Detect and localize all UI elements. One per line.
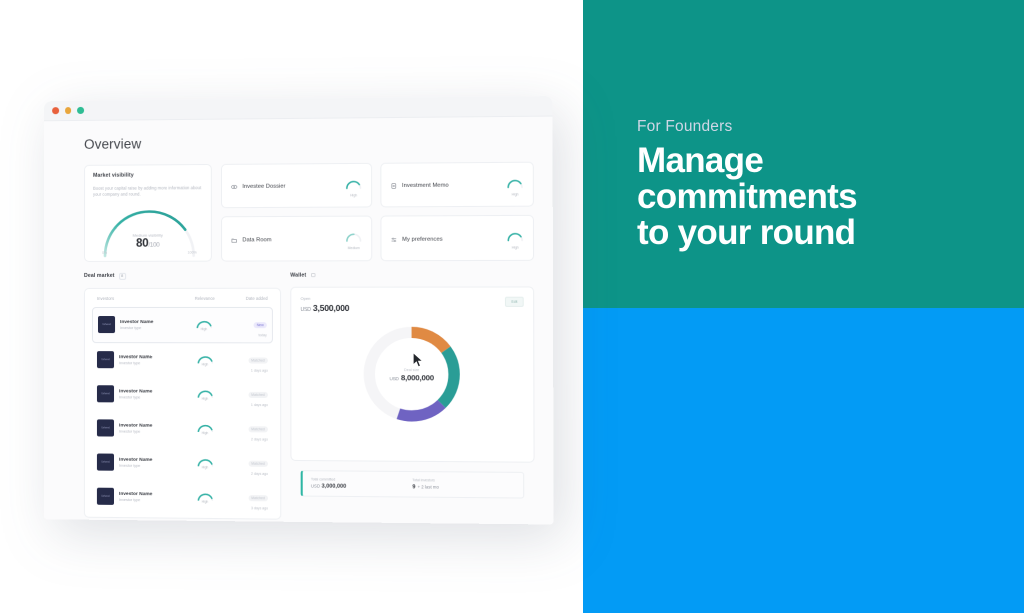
total-investors-trend: + 2 last mo [418, 484, 439, 489]
investor-type: Investor type [119, 464, 183, 469]
investor-name: Investor Name [119, 491, 183, 497]
market-visibility-label: Market visibility [93, 172, 203, 179]
status-badge: Matched [248, 460, 268, 466]
avatar: Ushered [98, 316, 115, 333]
relevance-label: High [202, 431, 209, 435]
edit-button[interactable]: Edit [505, 297, 524, 307]
investor-type: Investor type [119, 430, 183, 434]
total-investors: Total investors 9+ 2 last mo [412, 478, 514, 491]
status-badge: Matched [248, 357, 268, 363]
investor-type: Investor type [119, 361, 183, 365]
total-committed: Total committed USD3,000,000 [311, 477, 412, 490]
lower-row: Deal market 8 Investors Relevance Date a… [84, 272, 535, 522]
status-badge: New [254, 322, 267, 328]
relevance-gauge: High [183, 491, 228, 504]
column-header-relevance: Relevance [183, 296, 228, 301]
action-label: My preferences [402, 236, 443, 242]
action-score: High [507, 192, 524, 196]
donut-center-readout: Deal size USD8,000,000 [389, 368, 434, 382]
investor-type: Investor type [120, 326, 181, 330]
market-visibility-gauge: Medium visibility 80/100 0% 100% [93, 207, 203, 256]
total-investors-value: 9+ 2 last mo [412, 484, 514, 491]
table-row[interactable]: Ushered Investor Name Investor type High [92, 479, 273, 515]
page-title: Overview [84, 133, 534, 152]
minimize-window-icon[interactable] [65, 107, 71, 114]
wallet-open-label: Open [300, 295, 523, 300]
relevance-label: High [200, 327, 207, 331]
action-card-investee-dossier[interactable]: Investee Dossier High [221, 163, 372, 209]
date-added: 1 days ago [227, 403, 268, 407]
table-row[interactable]: Ushered Investor Name Investor type High [92, 377, 273, 412]
wallet-label: Wallet [290, 272, 306, 278]
wallet-section: Wallet Edit Open USD3,500,000 [290, 272, 535, 522]
relevance-gauge: High [183, 354, 228, 367]
market-visibility-card: Market visibility Boost your capital rai… [84, 164, 212, 262]
promo-founders-content: For Founders Manage commitments to your … [637, 118, 857, 251]
deal-market-table: Investors Relevance Date added Ushered I… [84, 288, 281, 520]
document-icon [391, 183, 397, 189]
table-row[interactable]: Ushered Investor Name Investor type High [92, 307, 273, 343]
maximize-window-icon[interactable] [77, 107, 83, 114]
investor-type: Investor type [119, 498, 183, 503]
window-content: Overview Market visibility Boost your ca… [44, 117, 554, 525]
avatar: Ushered [97, 420, 114, 437]
close-window-icon[interactable] [52, 107, 58, 114]
table-row[interactable]: Ushered Investor Name Investor type High [92, 343, 273, 378]
date-added: 3 days ago [227, 506, 268, 510]
mini-gauge-icon [507, 232, 524, 241]
action-label: Investment Memo [402, 183, 449, 189]
table-header-row: Investors Relevance Date added [92, 296, 273, 307]
action-score: High [345, 193, 361, 197]
folder-icon [231, 237, 237, 243]
relevance-label: High [202, 362, 209, 366]
relevance-gauge: High [183, 457, 228, 470]
avatar: Ushered [97, 351, 114, 368]
wallet-card: Edit Open USD3,500,000 [290, 286, 534, 462]
deal-size-label: Deal size [389, 368, 434, 372]
deal-market-section: Deal market 8 Investors Relevance Date a… [84, 272, 281, 519]
investor-name: Investor Name [119, 457, 183, 463]
eye-icon [231, 184, 237, 190]
avatar: Ushered [97, 454, 114, 471]
investor-name: Investor Name [119, 355, 183, 360]
action-score: Medium [346, 246, 362, 250]
relevance-label: High [202, 465, 209, 469]
avatar: Ushered [97, 488, 114, 505]
investor-name: Investor Name [120, 320, 181, 325]
gauge-readout: Medium visibility 80/100 [93, 232, 203, 249]
total-committed-label: Total committed [311, 477, 412, 482]
deal-market-count-badge: 8 [119, 273, 126, 280]
date-added: 1 days ago [227, 368, 268, 372]
avatar: Ushered [97, 386, 114, 403]
app-window: Overview Market visibility Boost your ca… [44, 96, 554, 524]
deal-market-label: Deal market [84, 273, 115, 279]
action-cards-grid: Investee Dossier High Investment Memo [221, 162, 534, 262]
column-header-date-added: Date added [227, 296, 268, 301]
date-added: 2 days ago [227, 437, 268, 441]
table-row[interactable]: Ushered Investor Name Investor type High [92, 411, 273, 446]
promo-founders-headline: Manage commitments to your round [637, 143, 857, 251]
deal-size-amount: USD8,000,000 [389, 373, 434, 382]
investor-type: Investor type [119, 395, 183, 399]
visibility-score: 80/100 [93, 237, 203, 249]
investor-name: Investor Name [119, 423, 183, 428]
slide-canvas: For Founders Manage commitments to your … [0, 0, 1024, 613]
table-row[interactable]: Ushered Investor Name Investor type High [92, 445, 273, 481]
relevance-gauge: High [183, 388, 228, 401]
market-visibility-description: Boost your capital raise by adding more … [93, 185, 203, 198]
action-score: High [507, 246, 524, 250]
app-window-mockup: Overview Market visibility Boost your ca… [44, 101, 542, 519]
relevance-label: High [202, 500, 209, 504]
action-label: Data Room [242, 237, 271, 243]
action-card-data-room[interactable]: Data Room Medium [221, 216, 372, 261]
relevance-gauge: High [183, 422, 228, 435]
status-badge: Matched [248, 426, 268, 432]
total-investors-label: Total investors [412, 478, 514, 483]
action-card-investment-memo[interactable]: Investment Memo High [380, 162, 534, 208]
market-visibility-row: Market visibility Boost your capital rai… [84, 162, 534, 262]
date-added: 2 days ago [227, 471, 268, 475]
mini-gauge-icon [345, 233, 361, 242]
gauge-min-label: 0% [102, 251, 107, 255]
status-badge: Matched [248, 392, 268, 398]
mini-gauge-icon [507, 179, 524, 188]
wallet-open-amount: USD3,500,000 [300, 303, 523, 313]
investor-name: Investor Name [119, 389, 183, 394]
column-header-investors: Investors [97, 296, 183, 301]
sliders-icon [391, 236, 397, 242]
total-committed-value: USD3,000,000 [311, 483, 412, 490]
date-added: today [226, 333, 267, 337]
promo-founders-eyebrow: For Founders [637, 118, 857, 136]
wallet-totals-bar: Total committed USD3,000,000 Total inves… [301, 470, 525, 498]
mini-gauge-icon [345, 180, 361, 189]
relevance-gauge: High [182, 319, 227, 332]
promo-panel-founders: For Founders Manage commitments to your … [583, 0, 1024, 308]
external-link-icon[interactable] [310, 273, 315, 278]
action-card-my-preferences[interactable]: My preferences High [380, 215, 534, 261]
wallet-donut-chart: Deal size USD8,000,000 [301, 319, 525, 434]
promo-panel-investors: For Investors Track investment’s progres… [583, 308, 1024, 613]
mouse-cursor-icon [412, 352, 424, 368]
action-label: Investee Dossier [242, 184, 285, 190]
status-badge: Matched [248, 495, 268, 501]
relevance-label: High [202, 397, 209, 401]
gauge-max-label: 100% [188, 250, 197, 254]
